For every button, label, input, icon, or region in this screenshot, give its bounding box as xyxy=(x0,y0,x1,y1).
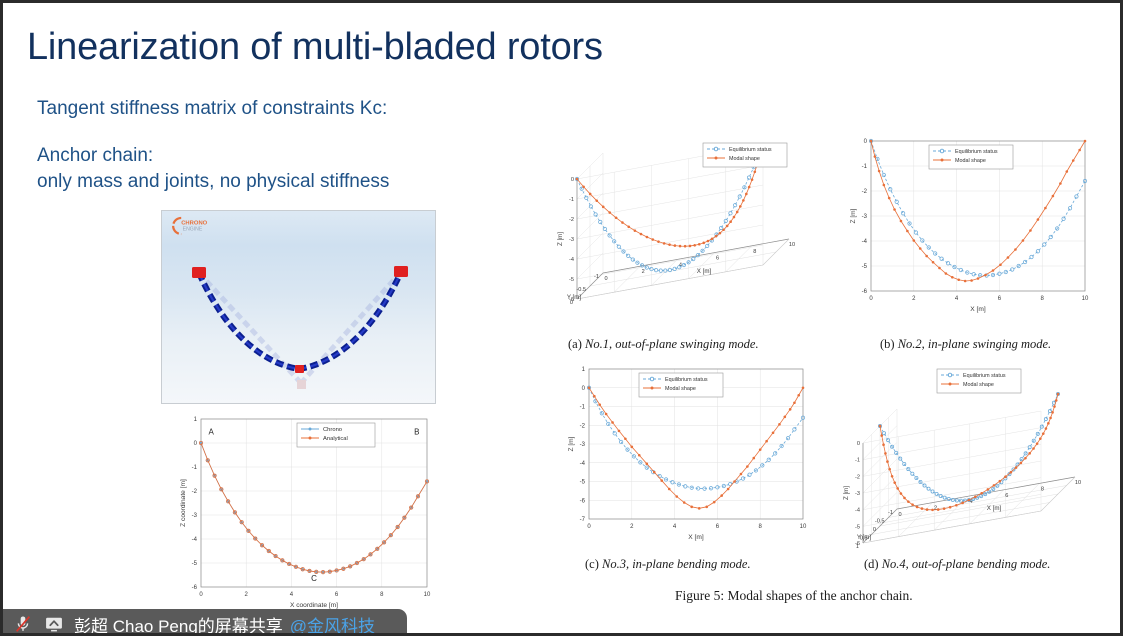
x-tick-label-3d: 8 xyxy=(753,249,756,255)
x-tick-label: 0 xyxy=(199,592,203,598)
y-tick-label: -2 xyxy=(862,189,868,195)
legend-label: Equilibrium status xyxy=(955,149,998,155)
chart-validation-catenary: 0246810-6-5-4-3-2-101X coordinate [m]Z c… xyxy=(161,409,438,621)
catenary-chain-scene xyxy=(162,211,436,404)
x-tick-label-3d: 0 xyxy=(898,512,901,518)
z-tick-label-3d: -3 xyxy=(855,491,860,497)
chrono-simulation-render: CHRONO ENGINE xyxy=(161,210,436,404)
y-tick-label: -4 xyxy=(192,537,198,543)
z-tick-label-3d: -3 xyxy=(569,237,574,243)
svg-text:CHRONO: CHRONO xyxy=(181,221,207,227)
y-tick-label: -3 xyxy=(192,513,198,519)
y-tick-label: -5 xyxy=(580,480,586,486)
y-tick-label-3d: -0.5 xyxy=(875,519,885,525)
legend-label: Chrono xyxy=(323,427,342,433)
x-tick-label: 6 xyxy=(998,296,1002,302)
mode-b-chart-svg: 0246810-6-5-4-3-2-10X [m]Z [m]Equilibriu… xyxy=(841,129,1101,329)
point-annotation: B xyxy=(414,428,419,437)
y-tick-label-3d: -0.5 xyxy=(576,287,586,293)
legend-label: Equilibrium status xyxy=(665,377,708,383)
presentation-slide: Linearization of multi-bladed rotors Tan… xyxy=(3,3,1120,633)
series-1 xyxy=(587,386,804,490)
point-annotation: A xyxy=(208,428,214,437)
screen-share-bar: 彭超 Chao Peng的屏幕共享 @金风科技 xyxy=(3,609,407,633)
subcaption-c-text: No.3, in-plane bending mode. xyxy=(602,557,751,571)
validation-chart-svg: 0246810-6-5-4-3-2-101X coordinate [m]Z c… xyxy=(161,409,438,621)
legend-label: Modal shape xyxy=(955,158,986,164)
z-tick-label-3d: -5 xyxy=(855,524,860,530)
mode-c-chart-svg: 0246810-7-6-5-4-3-2-101X [m]Z [m]Equilib… xyxy=(559,359,821,555)
mode-a-chart-svg: 0246810-1-0.50-6-5-4-3-2-10X [m]Y [m]Z [… xyxy=(555,129,827,329)
x-tick-label: 8 xyxy=(1041,296,1045,302)
chart-legend: Equilibrium statusModal shape xyxy=(937,369,1021,393)
y-tick-label: -5 xyxy=(862,264,868,270)
subcaption-d-label: (d) xyxy=(864,557,879,571)
mode-d-chart-svg: 0246810-1-0.500.51-6-5-4-3-2-10X [m]Y [m… xyxy=(841,359,1109,555)
screen-share-handle: @金风科技 xyxy=(290,612,375,634)
z-tick-label-3d: -1 xyxy=(855,458,860,464)
x-tick-label: 10 xyxy=(424,592,431,598)
z-tick-label-3d: -4 xyxy=(855,508,860,514)
y-tick-label: -6 xyxy=(862,289,868,295)
x-tick-label: 2 xyxy=(912,296,916,302)
z-tick-label-3d: 0 xyxy=(571,177,574,183)
x-tick-label-3d: 0 xyxy=(604,276,607,282)
x-tick-label: 6 xyxy=(716,524,720,530)
x-axis-label: X [m] xyxy=(688,534,704,541)
y-tick-label: -2 xyxy=(192,489,198,495)
y-tick-label: -1 xyxy=(862,164,868,170)
y-tick-label: 1 xyxy=(582,367,586,373)
microphone-muted-icon[interactable] xyxy=(12,613,34,633)
series-1 xyxy=(199,441,429,574)
chart-legend: Equilibrium statusModal shape xyxy=(929,145,1013,169)
y-tick-label: -3 xyxy=(580,442,586,448)
anchor-chain-note: Anchor chain: only mass and joints, no p… xyxy=(37,143,389,195)
x-tick-label: 0 xyxy=(869,296,873,302)
subcaption-c: (c) No.3, in-plane bending mode. xyxy=(585,557,751,572)
subcaption-d: (d) No.4, out-of-plane bending mode. xyxy=(864,557,1050,572)
chart-legend: Equilibrium statusModal shape xyxy=(639,373,723,397)
x-axis-label-3d: X [m] xyxy=(987,505,1002,512)
subcaption-b: (b) No.2, in-plane swinging mode. xyxy=(880,337,1051,352)
y-tick-label: 1 xyxy=(194,417,198,423)
chart-axes-3d xyxy=(863,443,1075,543)
y-tick-label: -2 xyxy=(580,423,586,429)
chart-legend: ChronoAnalytical xyxy=(297,423,375,447)
x-tick-label-3d: 6 xyxy=(716,256,719,262)
subcaption-b-text: No.2, in-plane swinging mode. xyxy=(898,337,1051,351)
y-tick-label: -6 xyxy=(192,585,198,591)
subcaption-d-text: No.4, out-of-plane bending mode. xyxy=(882,557,1051,571)
x-tick-label: 10 xyxy=(1082,296,1089,302)
chart-axes-3d xyxy=(577,179,789,299)
y-tick-label: -3 xyxy=(862,214,868,220)
chrono-logo-icon: CHRONO ENGINE xyxy=(168,215,212,237)
subcaption-a-label: (a) xyxy=(568,337,582,351)
anchor-chain-line-2: only mass and joints, no physical stiffn… xyxy=(37,169,389,195)
x-tick-label-3d: 2 xyxy=(934,506,937,512)
series-2 xyxy=(588,386,805,509)
subcaption-c-label: (c) xyxy=(585,557,599,571)
y-axis-label-3d: Y [m] xyxy=(857,534,872,541)
x-tick-label: 4 xyxy=(673,524,677,530)
series-equilibrium-3d xyxy=(878,392,1059,502)
z-tick-label-3d: -2 xyxy=(569,217,574,223)
x-tick-label: 2 xyxy=(630,524,634,530)
y-tick-label: -5 xyxy=(192,561,198,567)
anchor-chain-line-1: Anchor chain: xyxy=(37,143,389,169)
x-tick-label: 0 xyxy=(587,524,591,530)
z-tick-label-3d: -1 xyxy=(569,197,574,203)
y-tick-label: 0 xyxy=(194,441,198,447)
chart-grid-3d xyxy=(863,409,1075,543)
z-axis-label-3d: Z [m] xyxy=(843,486,850,500)
z-axis-label-3d: Z [m] xyxy=(557,232,564,246)
y-axis-label: Z coordinate [m] xyxy=(180,479,187,527)
z-tick-label-3d: -4 xyxy=(569,257,574,263)
y-tick-label-3d: -1 xyxy=(594,274,599,280)
legend-label: Equilibrium status xyxy=(963,373,1006,379)
page-title: Linearization of multi-bladed rotors xyxy=(27,26,603,69)
anchor-node-left xyxy=(192,267,206,278)
x-tick-label-3d: 10 xyxy=(1075,480,1081,486)
svg-text:ENGINE: ENGINE xyxy=(183,226,203,232)
y-axis-label: Z [m] xyxy=(850,208,857,223)
subcaption-b-label: (b) xyxy=(880,337,895,351)
y-tick-label-3d: -1 xyxy=(888,510,893,516)
equilibrium-chain xyxy=(199,272,401,369)
subtitle-text: Tangent stiffness matrix of constraints … xyxy=(37,98,387,120)
z-tick-label-3d: 0 xyxy=(857,441,860,447)
z-tick-label-3d: -6 xyxy=(855,541,860,547)
y-tick-label: -7 xyxy=(580,517,586,523)
x-tick-label: 6 xyxy=(335,592,339,598)
x-tick-label: 2 xyxy=(245,592,249,598)
y-tick-label: -1 xyxy=(580,405,586,411)
x-axis-label: X coordinate [m] xyxy=(290,602,338,609)
x-tick-label: 8 xyxy=(759,524,763,530)
y-tick-label: 0 xyxy=(582,386,586,392)
x-tick-label: 10 xyxy=(800,524,807,530)
x-tick-label-3d: 8 xyxy=(1041,486,1044,492)
legend-label: Modal shape xyxy=(665,386,696,392)
legend-label: Analytical xyxy=(323,436,348,442)
anchor-node-right xyxy=(394,266,408,277)
y-axis-label-3d: Y [m] xyxy=(567,294,582,301)
x-tick-label: 4 xyxy=(955,296,959,302)
x-axis-label: X [m] xyxy=(970,306,986,313)
x-tick-label-3d: 10 xyxy=(789,242,795,248)
z-tick-label-3d: -5 xyxy=(569,277,574,283)
legend-label: Modal shape xyxy=(729,156,760,162)
x-tick-label: 4 xyxy=(290,592,294,598)
chart-legend: Equilibrium statusModal shape xyxy=(703,143,787,167)
y-tick-label: -4 xyxy=(580,461,586,467)
subcaption-a-text: No.1, out-of-plane swinging mode. xyxy=(585,337,759,351)
screen-share-icon[interactable] xyxy=(43,613,65,633)
chart-mode-b: 0246810-6-5-4-3-2-10X [m]Z [m]Equilibriu… xyxy=(841,129,1101,329)
mid-node-marker xyxy=(295,365,304,373)
y-tick-label: -4 xyxy=(862,239,868,245)
subcaption-a: (a) No.1, out-of-plane swinging mode. xyxy=(568,337,759,352)
chart-mode-c: 0246810-7-6-5-4-3-2-101X [m]Z [m]Equilib… xyxy=(559,359,821,555)
series-2 xyxy=(199,441,428,574)
legend-label: Equilibrium status xyxy=(729,147,772,153)
point-annotation: C xyxy=(311,574,317,583)
legend-label: Modal shape xyxy=(963,382,994,388)
x-tick-label: 8 xyxy=(380,592,384,598)
chart-mode-a: 0246810-1-0.50-6-5-4-3-2-10X [m]Y [m]Z [… xyxy=(555,129,827,329)
x-axis-label-3d: X [m] xyxy=(697,268,712,275)
y-tick-label-3d: 0 xyxy=(873,527,876,533)
x-tick-label-3d: 6 xyxy=(1005,493,1008,499)
y-tick-label: -1 xyxy=(192,465,198,471)
y-tick-label: 0 xyxy=(864,139,868,145)
screen-share-label: 彭超 Chao Peng的屏幕共享 xyxy=(74,612,283,634)
y-axis-label: Z [m] xyxy=(568,436,575,451)
z-tick-label-3d: -2 xyxy=(855,474,860,480)
y-tick-label: -6 xyxy=(580,498,586,504)
chart-mode-d: 0246810-1-0.500.51-6-5-4-3-2-10X [m]Y [m… xyxy=(841,359,1109,555)
chart-grid-3d xyxy=(577,145,789,299)
x-tick-label-3d: 2 xyxy=(642,269,645,275)
figure-caption: Figure 5: Modal shapes of the anchor cha… xyxy=(675,588,913,604)
